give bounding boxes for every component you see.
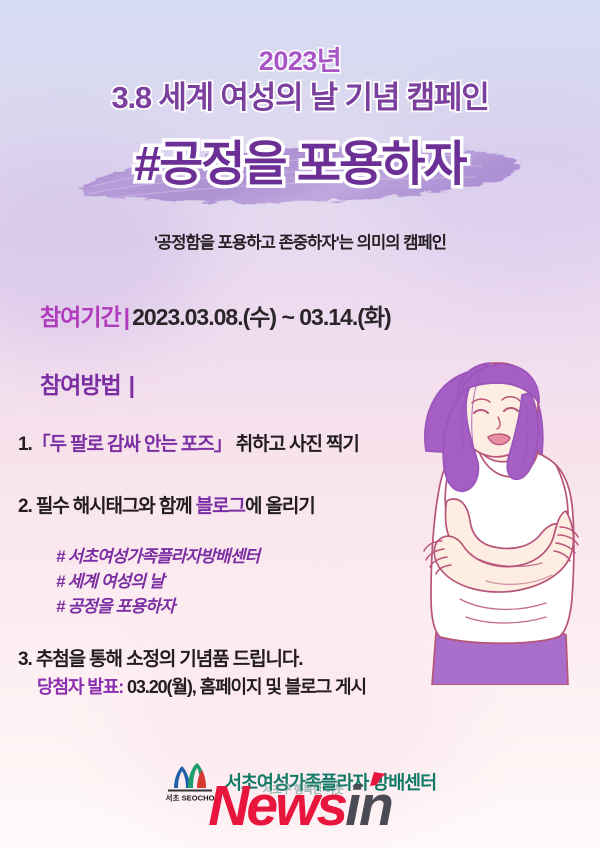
hashtag-item-3: #공정을 포용하자	[56, 595, 259, 620]
announcement-value: 03.20(월), 홈페이지 및 블로그 게시	[123, 677, 366, 697]
method-label: 참여방법	[40, 372, 121, 398]
method-step-2: 2. 필수 해시태그와 함께 블로그에 올리기	[18, 491, 315, 518]
participation-method-heading: 참여방법|	[40, 366, 134, 400]
campaign-title: 3.8 세계 여성의 날 기념 캠페인	[0, 79, 600, 116]
campaign-year: 2023년	[0, 46, 600, 77]
step-2-highlight: 블로그	[196, 496, 245, 517]
newsin-watermark: News in	[0, 778, 600, 835]
watermark-news-text: News	[208, 778, 345, 835]
poster-footer: 서초 SEOCHO 서초여성가족플라자 방배센터 서초구 행복한 이웃 News…	[0, 748, 600, 848]
step-2-before: 필수 해시태그와 함께	[32, 496, 196, 517]
step-1-highlight: 「두 팔로 감싸 안는 포즈」	[32, 434, 232, 455]
flag-icon	[369, 772, 386, 787]
step-3-number: 3.	[18, 649, 32, 670]
hash-symbol-3: #	[56, 597, 65, 616]
step-1-number: 1.	[18, 434, 32, 455]
hero-headline: #공정을 포용하자	[0, 135, 600, 195]
hashtag-item-1: #서초여성가족플라자방배센터	[56, 545, 259, 570]
step-1-after: 취하고 사진 찍기	[232, 434, 359, 455]
watermark-in-wrap: in	[345, 778, 392, 835]
hero-headline-block: #공정을 포용하자	[0, 131, 600, 209]
hashtag-text-1: 서초여성가족플라자방배센터	[68, 547, 260, 566]
period-label: 참여기간	[40, 304, 121, 330]
step-3-before: 추첨을 통해 소정의 기념품 드립니다.	[32, 649, 303, 670]
announcement-label: 당첨자 발표:	[37, 677, 123, 697]
method-separator: |	[129, 372, 134, 398]
hashtag-text-2: 세계 여성의 날	[68, 572, 164, 591]
participation-period: 참여기간|2023.03.08.(수) ~ 03.14.(화)	[40, 298, 391, 332]
woman-self-hug-illustration	[400, 355, 596, 685]
hash-symbol-2: #	[56, 572, 65, 591]
method-step-3: 3. 추첨을 통해 소정의 기념품 드립니다.	[18, 644, 302, 671]
method-step-1: 1.「두 팔로 감싸 안는 포즈」 취하고 사진 찍기	[18, 429, 359, 456]
winner-announcement: 당첨자 발표: 03.20(월), 홈페이지 및 블로그 게시	[37, 673, 366, 699]
step-2-number: 2.	[18, 496, 32, 517]
campaign-subtitle: '공정함을 포용하고 존중하자'는 의미의 캠페인	[0, 229, 600, 253]
hash-symbol-1: #	[56, 547, 65, 566]
period-separator: |	[124, 304, 129, 330]
hashtag-text-3: 공정을 포용하자	[68, 597, 175, 616]
step-2-after: 에 올리기	[245, 496, 315, 517]
campaign-poster: 2023년 3.8 세계 여성의 날 기념 캠페인	[0, 0, 600, 848]
required-hashtag-list: #서초여성가족플라자방배센터 #세계 여성의 날 #공정을 포용하자	[56, 545, 259, 620]
period-value: 2023.03.08.(수) ~ 03.14.(화)	[132, 304, 391, 330]
poster-header: 2023년 3.8 세계 여성의 날 기념 캠페인	[0, 46, 600, 116]
hashtag-item-2: #세계 여성의 날	[56, 570, 259, 595]
